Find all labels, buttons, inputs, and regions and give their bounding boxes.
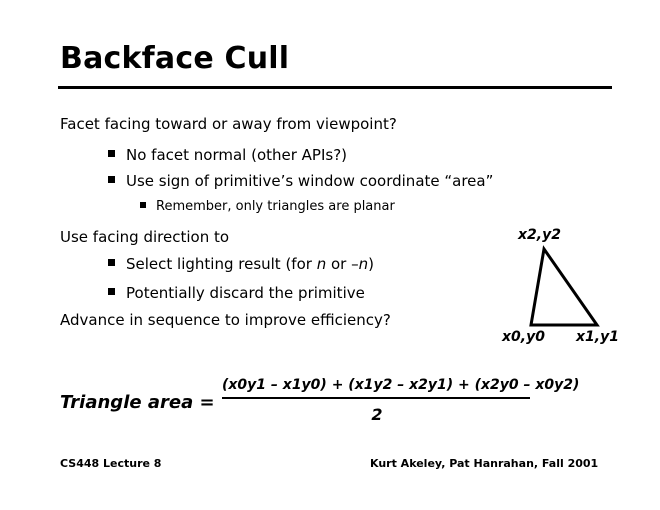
fraction: (x0y1 – x1y0) + (x1y2 – x2y1) + (x2y0 – … <box>222 378 532 423</box>
square-bullet-icon <box>108 288 115 295</box>
fraction-bar <box>222 397 530 399</box>
bullet-level2-select-lighting-result: Select lighting result (for n or –n) <box>108 257 374 272</box>
bullet-text: Select lighting result (for n or –n) <box>126 255 374 273</box>
square-bullet-icon <box>108 150 115 157</box>
bullet-level2-no-facet-normal: No facet normal (other APIs?) <box>108 148 347 163</box>
bullet-level2-potentially-discard: Potentially discard the primitive <box>108 286 365 301</box>
bullet-level1-use-facing-direction: Use facing direction to <box>60 230 229 245</box>
bullet-text-part: Select lighting result (for <box>126 255 317 273</box>
page-title: Backface Cull <box>60 44 289 74</box>
bullet-text-part: ) <box>368 255 374 273</box>
bullet-level1-advance-in-sequence: Advance in sequence to improve efficienc… <box>60 313 391 328</box>
footer-authors-label: Kurt Akeley, Pat Hanrahan, Fall 2001 <box>370 458 598 469</box>
vertex-label-x0y0: x0,y0 <box>502 330 545 344</box>
formula-denominator: 2 <box>222 407 532 423</box>
bullet-text: Use facing direction to <box>60 228 229 246</box>
bullet-level3-triangles-planar: Remember, only triangles are planar <box>140 200 395 213</box>
bullet-text: Advance in sequence to improve efficienc… <box>60 311 391 329</box>
bullet-text: Use sign of primitive’s window coordinat… <box>126 172 493 190</box>
negated-normal-vector-symbol: n <box>359 255 369 273</box>
triangle-area-formula: Triangle area = (x0y1 – x1y0) + (x1y2 – … <box>60 378 600 444</box>
normal-vector-symbol: n <box>317 255 327 273</box>
bullet-text-part: or – <box>326 255 358 273</box>
vertex-label-x2y2: x2,y2 <box>518 228 561 242</box>
bullet-level2-use-sign-of-area: Use sign of primitive’s window coordinat… <box>108 174 493 189</box>
formula-label: Triangle area = <box>60 392 215 413</box>
square-bullet-icon <box>108 176 115 183</box>
title-divider <box>58 86 612 89</box>
bullet-text: Facet facing toward or away from viewpoi… <box>60 115 397 133</box>
triangle-diagram: x2,y2 x0,y0 x1,y1 <box>486 226 646 350</box>
bullet-text: No facet normal (other APIs?) <box>126 146 347 164</box>
footer-lecture-label: CS448 Lecture 8 <box>60 458 161 469</box>
vertex-label-x1y1: x1,y1 <box>576 330 619 344</box>
square-bullet-icon <box>108 259 115 266</box>
slide: Backface Cull Facet facing toward or awa… <box>0 0 660 510</box>
square-bullet-icon <box>140 202 146 208</box>
bullet-text: Potentially discard the primitive <box>126 284 365 302</box>
bullet-text: Remember, only triangles are planar <box>156 199 395 214</box>
formula-numerator: (x0y1 – x1y0) + (x1y2 – x2y1) + (x2y0 – … <box>222 378 532 393</box>
bullet-level1-facet-facing: Facet facing toward or away from viewpoi… <box>60 117 397 132</box>
